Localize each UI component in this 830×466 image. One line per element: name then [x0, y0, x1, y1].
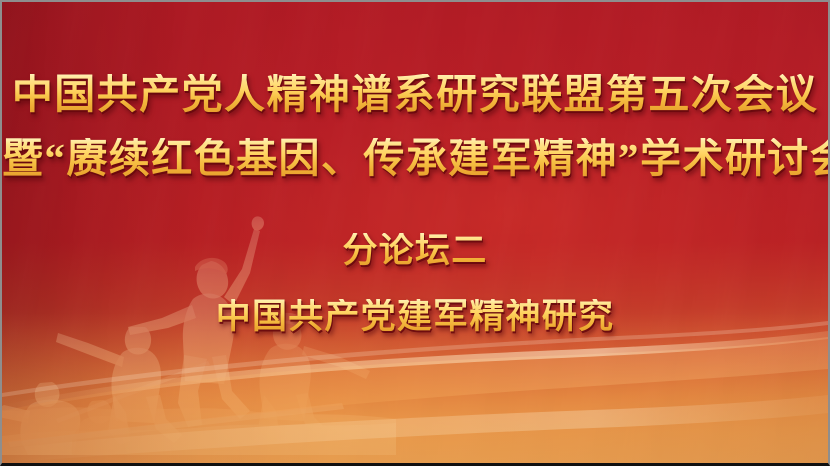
conference-title-slide: 中国共产党人精神谱系研究联盟第五次会议 暨“赓续红色基因、传承建军精神”学术研讨… [0, 0, 830, 466]
subtitle-forum-topic: 中国共产党建军精神研究 [2, 299, 828, 334]
subtitle-forum-number: 分论坛二 [2, 233, 828, 268]
headline-line-1: 中国共产党人精神谱系研究联盟第五次会议 [2, 74, 828, 115]
slide-text-block: 中国共产党人精神谱系研究联盟第五次会议 暨“赓续红色基因、传承建军精神”学术研讨… [2, 2, 828, 463]
headline-line-2: 暨“赓续红色基因、传承建军精神”学术研讨会 [2, 138, 828, 179]
